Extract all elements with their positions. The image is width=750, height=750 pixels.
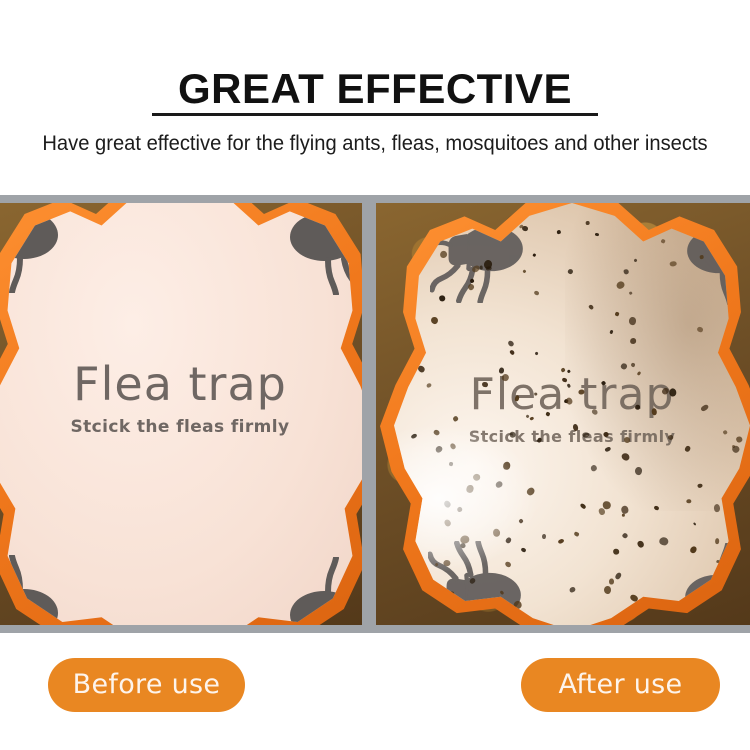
pad-brand-subtitle: Stcick the fleas firmly (0, 419, 362, 436)
caught-flea (653, 506, 659, 511)
pad-branding: Flea trap Stcick the fleas firmly (0, 361, 362, 436)
caught-flea (620, 362, 628, 370)
caught-flea (449, 442, 457, 450)
caught-flea (630, 337, 636, 343)
caught-flea (731, 445, 740, 454)
caught-flea (628, 316, 636, 325)
caught-flea (601, 380, 606, 385)
caught-flea (685, 444, 692, 451)
caught-flea (573, 531, 579, 537)
caught-flea (443, 500, 452, 509)
caught-flea (563, 399, 568, 404)
caught-flea (602, 500, 610, 509)
caught-flea (410, 433, 417, 440)
caught-flea (514, 395, 519, 402)
caught-flea (692, 522, 696, 526)
caught-flea (637, 540, 645, 549)
caught-flea (667, 434, 674, 441)
caught-flea (621, 505, 630, 514)
caught-flea (525, 414, 530, 418)
caught-flea (629, 291, 633, 295)
caught-flea (660, 238, 666, 244)
caught-flea (566, 384, 571, 389)
caught-flea (696, 326, 703, 333)
caught-flea (508, 349, 514, 355)
pad-branding: Flea trap Stcick the fleas firmly (394, 373, 750, 445)
caught-flea (580, 503, 587, 510)
caught-flea (567, 268, 574, 275)
caught-flea (456, 506, 462, 513)
caught-flea (510, 431, 516, 437)
caught-flea (567, 369, 572, 373)
caught-flea (452, 416, 459, 423)
caught-flea (430, 316, 439, 325)
caught-flea (623, 268, 629, 274)
caught-flea (615, 281, 625, 291)
caught-flea (634, 259, 638, 263)
caught-flea (494, 480, 503, 489)
caught-flea (534, 392, 538, 395)
caught-flea (518, 518, 524, 524)
caught-flea (624, 437, 630, 443)
caught-flea (613, 549, 620, 555)
pad-brand-title: Flea trap (0, 361, 362, 407)
caught-flea (482, 381, 488, 387)
title-underline (152, 113, 598, 116)
caught-flea (630, 362, 635, 367)
caught-flea (636, 371, 641, 376)
caught-flea (614, 312, 619, 317)
caught-flea (546, 411, 551, 416)
caught-flea (732, 445, 736, 449)
caught-flea (622, 514, 625, 517)
caught-flea (578, 390, 584, 395)
caught-flea (598, 507, 606, 515)
caught-flea (542, 534, 547, 540)
caught-flea (472, 472, 482, 482)
caught-flea (433, 429, 441, 437)
caught-flea (562, 377, 568, 383)
caught-flea (586, 221, 590, 225)
caught-flea (603, 586, 611, 594)
caught-flea (660, 387, 669, 396)
caught-flea (449, 462, 454, 467)
before-use-button[interactable]: Before use (48, 658, 245, 712)
caught-flea (610, 579, 615, 585)
caught-flea (534, 352, 538, 356)
caught-flea (635, 404, 640, 410)
caught-flea (581, 431, 589, 437)
caught-flea (499, 367, 504, 373)
caught-flea (735, 436, 743, 443)
caught-flea (669, 388, 677, 397)
caught-flea (621, 532, 628, 539)
caught-flea (687, 499, 692, 504)
caught-flea (442, 519, 451, 528)
caught-flea (565, 397, 573, 406)
after-use-photo: Flea trap Stcick the fleas firmly (376, 203, 750, 625)
caught-flea (609, 329, 613, 333)
caught-flea (603, 431, 610, 438)
caught-flea (722, 429, 728, 435)
before-use-photo: Flea trap Stcick the fleas firmly (0, 203, 362, 625)
after-use-button[interactable]: After use (521, 658, 720, 712)
caught-flea (526, 486, 536, 496)
caught-flea (698, 483, 704, 488)
caught-flea (493, 529, 500, 537)
caught-flea (569, 586, 576, 593)
page-title: GREAT EFFECTIVE (0, 68, 750, 110)
pad-brand-subtitle: Stcick the fleas firmly (394, 429, 750, 445)
caught-flea (590, 408, 598, 416)
sticky-pad-used: Flea trap Stcick the fleas firmly (394, 203, 750, 625)
caught-flea (503, 461, 511, 469)
caught-flea (557, 538, 564, 544)
header-section: GREAT EFFECTIVE Have great effective for… (0, 0, 750, 195)
caught-flea (556, 230, 561, 235)
caught-flea (465, 484, 474, 493)
caught-flea (560, 368, 566, 373)
caught-flea (501, 373, 510, 382)
footer-section: Before use After use (0, 633, 750, 750)
caught-flea (713, 503, 720, 512)
page-subtitle: Have great effective for the flying ants… (15, 131, 735, 156)
caught-flea (507, 340, 515, 347)
caught-flea (590, 464, 598, 472)
caught-flea (537, 437, 543, 443)
before-after-comparison: Flea trap Stcick the fleas firmly (0, 195, 750, 633)
caught-flea (595, 233, 599, 236)
caught-flea (620, 452, 631, 463)
sticky-pad-clean: Flea trap Stcick the fleas firmly (0, 203, 362, 625)
caught-flea (573, 423, 580, 431)
caught-flea (529, 416, 534, 420)
caught-flea (605, 446, 612, 453)
caught-flea (435, 444, 444, 453)
caught-flea (700, 404, 709, 413)
pad-brand-title: Flea trap (394, 373, 750, 417)
caught-flea (659, 537, 670, 547)
caught-flea (651, 407, 657, 414)
caught-flea (588, 305, 594, 311)
caught-flea (426, 383, 432, 389)
caught-flea (615, 571, 623, 579)
caught-flea (634, 467, 642, 476)
